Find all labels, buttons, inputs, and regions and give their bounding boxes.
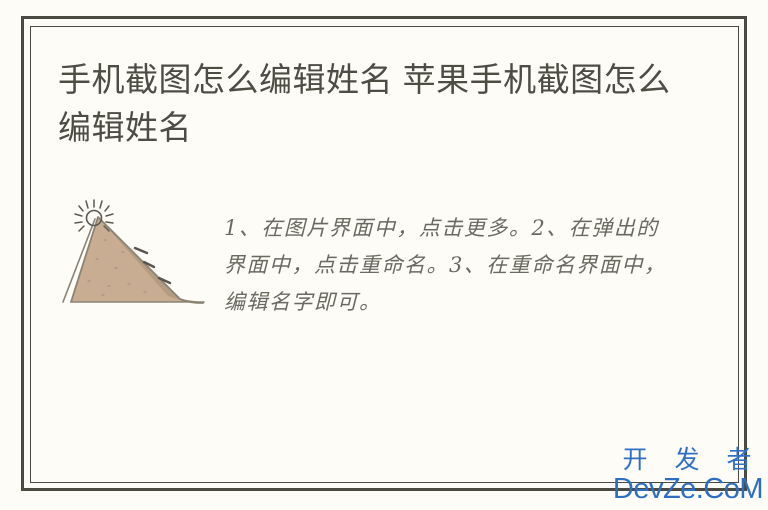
article-body-text: 1、在图片界面中，点击更多。2、在弹出的界面中，点击重命名。3、在重命名界面中，… [224,196,678,321]
article-page: 手机截图怎么编辑姓名 苹果手机截图怎么编辑姓名 [0,0,768,510]
article-content: 1、在图片界面中，点击更多。2、在弹出的界面中，点击重命名。3、在重命名界面中，… [58,196,678,322]
sand-dune-with-sun-illustration [58,196,210,322]
page-title: 手机截图怎么编辑姓名 苹果手机截图怎么编辑姓名 [58,56,678,152]
